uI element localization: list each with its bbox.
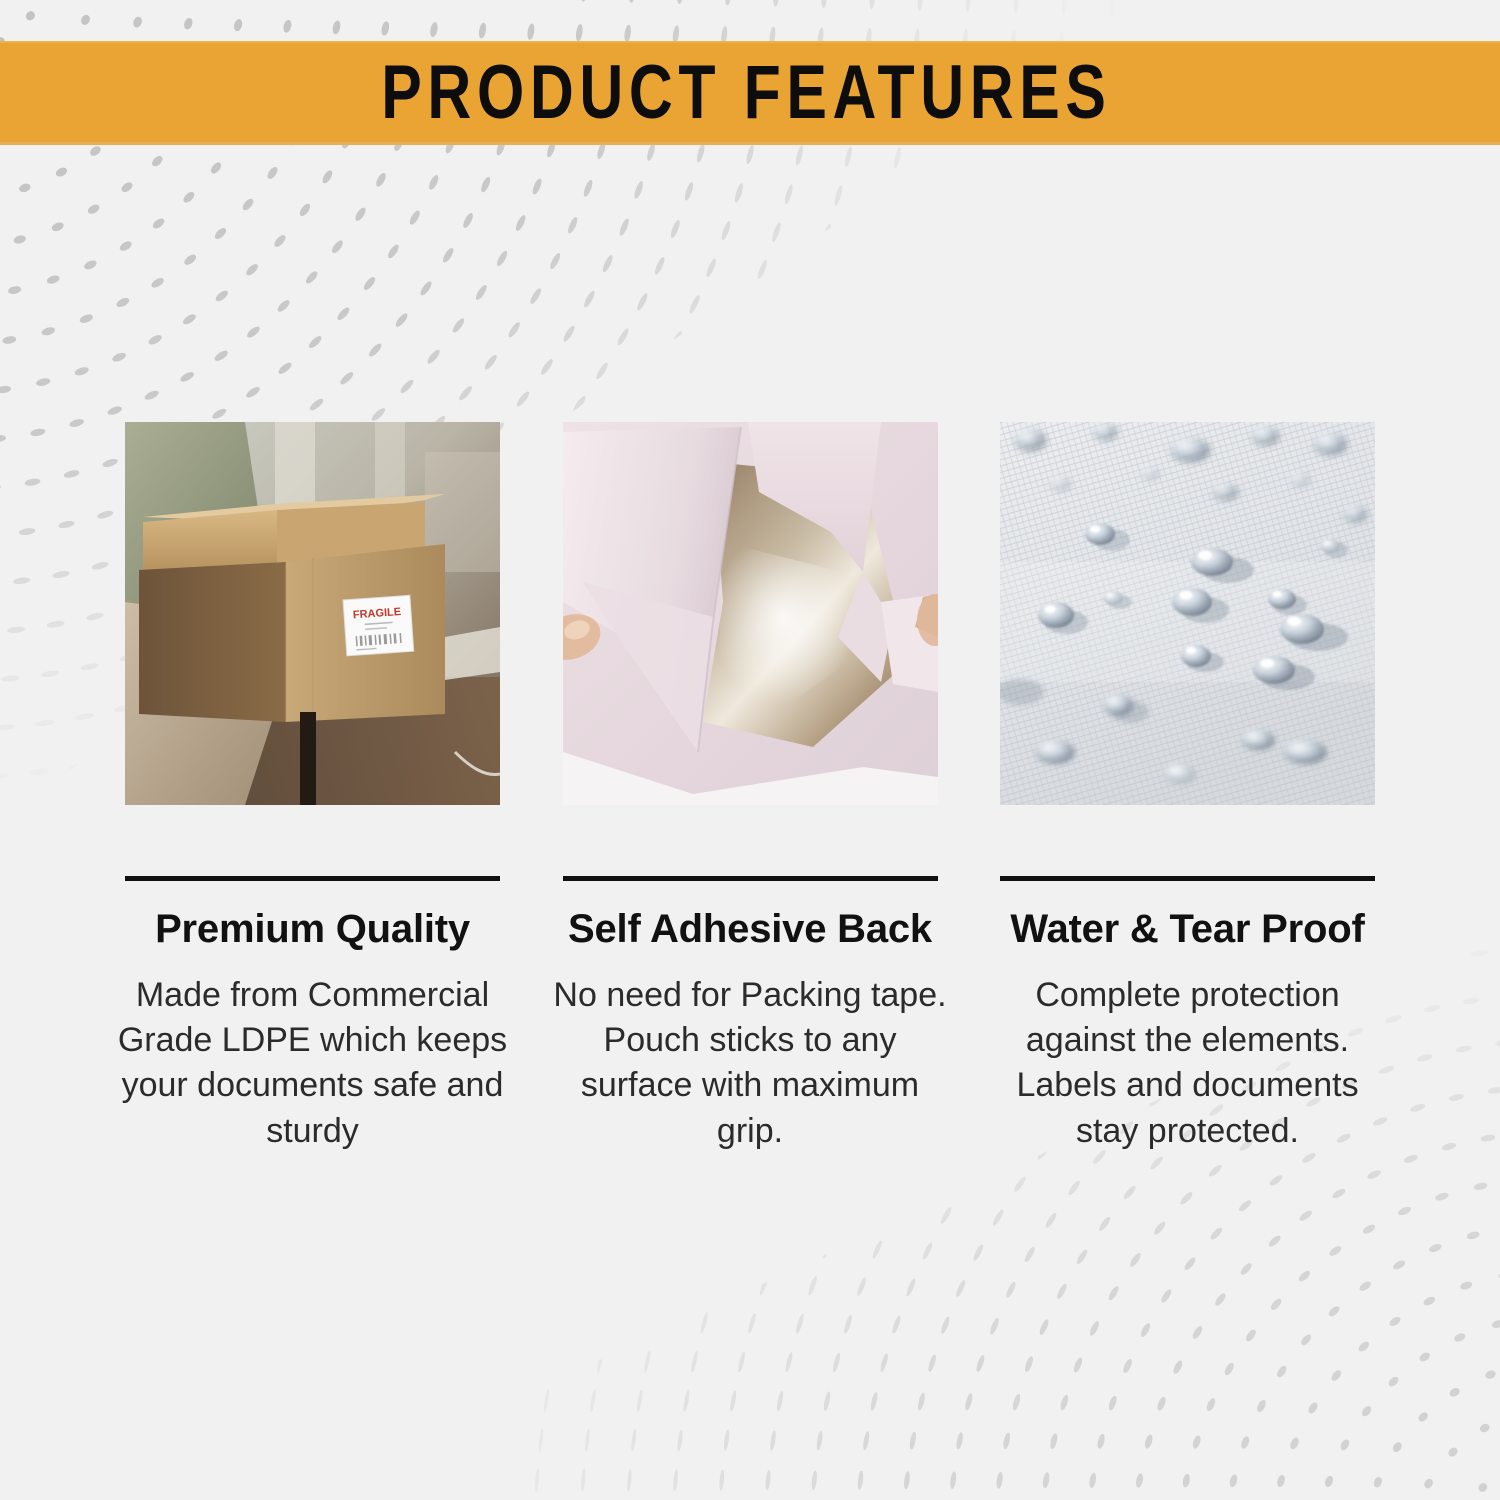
feature-divider bbox=[125, 876, 500, 881]
feature-title: Water & Tear Proof bbox=[1010, 907, 1364, 951]
header-banner: PRODUCT FEATURES bbox=[0, 41, 1500, 145]
worker-carrying-fragile-labeled-cardboard-boxes-image: FRAGILE bbox=[125, 422, 500, 805]
feature-divider bbox=[563, 876, 938, 881]
feature-divider bbox=[1000, 876, 1375, 881]
feature-card-premium-quality: FRAGILE bbox=[125, 422, 500, 1154]
hand-peeling-pink-adhesive-liner-image bbox=[563, 422, 938, 805]
feature-body: Complete protection against the elements… bbox=[988, 973, 1388, 1154]
feature-title: Self Adhesive Back bbox=[568, 907, 932, 951]
feature-body: Made from Commercial Grade LDPE which ke… bbox=[113, 973, 513, 1154]
feature-body: No need for Packing tape. Pouch sticks t… bbox=[550, 973, 950, 1154]
feature-title: Premium Quality bbox=[155, 907, 470, 951]
water-droplets-beading-on-woven-fabric-image bbox=[1000, 422, 1375, 805]
feature-card-self-adhesive-back: Self Adhesive Back No need for Packing t… bbox=[563, 422, 938, 1154]
feature-card-list: FRAGILE bbox=[125, 422, 1375, 1154]
page-title: PRODUCT FEATURES bbox=[381, 55, 1111, 131]
feature-card-water-tear-proof: Water & Tear Proof Complete protection a… bbox=[1000, 422, 1375, 1154]
